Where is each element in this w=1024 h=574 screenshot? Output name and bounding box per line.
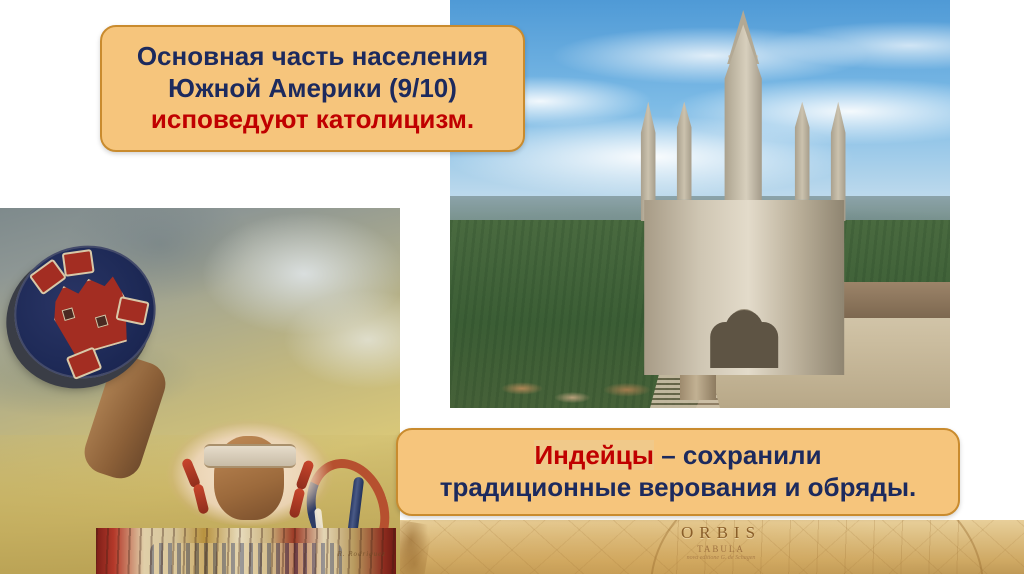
caption-bottom-line-1-rest: – сохранили <box>654 440 822 470</box>
beaded-headband <box>204 444 296 468</box>
inner-spire-left <box>670 102 698 200</box>
artist-signature: R. Rodriguez <box>337 550 386 558</box>
photo-cathedral-tibidabo <box>450 0 950 408</box>
drum-motif <box>61 249 94 277</box>
church-facade <box>644 200 844 375</box>
caption-catholicism: Основная часть населения Южной Америки (… <box>100 25 525 152</box>
drum-motif <box>65 347 102 380</box>
slide-root: ORBIS TABULA nova editione G. de Schagen <box>0 0 1024 574</box>
caption-bottom-line-1: Индейцы – сохранили <box>410 440 946 472</box>
map-title: ORBIS <box>626 523 816 543</box>
inner-spire-right <box>788 102 816 200</box>
caption-bottom-line-2: традиционные верования и обряды. <box>410 472 946 504</box>
church-structure <box>608 24 878 375</box>
photo-native-american-chief: R. Rodriguez <box>0 208 400 574</box>
caption-keyword-indians: Индейцы <box>534 440 654 470</box>
portal-arch-right <box>748 322 778 368</box>
caption-line-2: Южной Америки (9/10) <box>112 73 513 105</box>
map-caption: nova editione G. de Schagen <box>626 555 816 561</box>
map-subtitle: TABULA <box>626 544 816 554</box>
caption-line-3-highlight: исповедуют католицизм. <box>112 104 513 136</box>
caption-line-1: Основная часть населения <box>112 41 513 73</box>
caption-indians: Индейцы – сохранили традиционные верован… <box>396 428 960 516</box>
